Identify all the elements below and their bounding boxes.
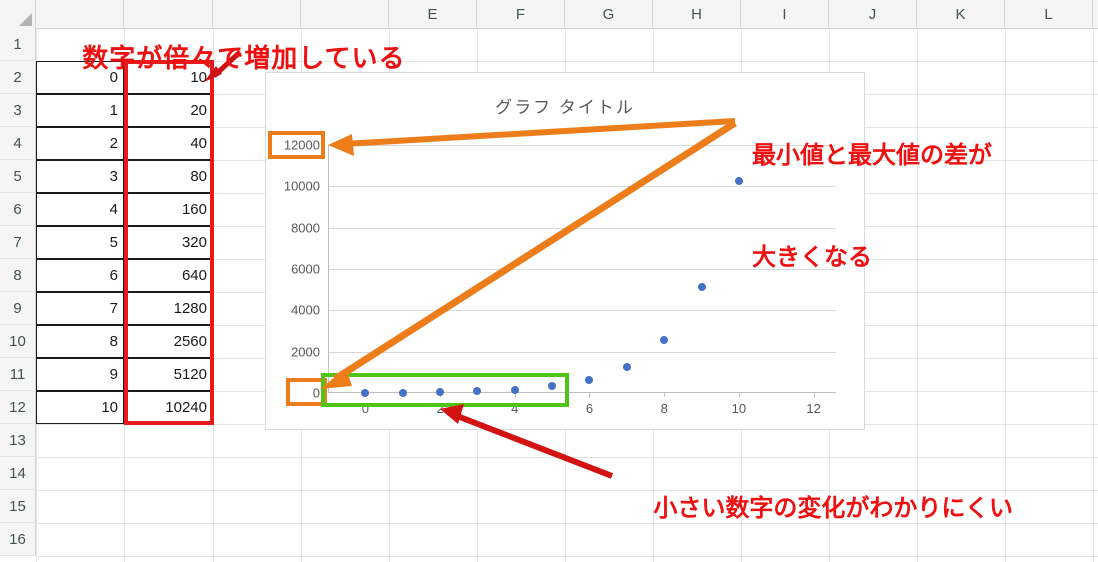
annotation-right: 最小値と最大値の差が 大きくなる	[752, 70, 992, 342]
row-header-6[interactable]: 6	[0, 193, 36, 226]
row-header-15[interactable]: 15	[0, 490, 36, 523]
annotation-bottom-text: 小さい数字の変化がわかりにくい	[653, 494, 1013, 522]
column-header-l[interactable]: L	[1005, 0, 1093, 28]
xtick-label-4: 4	[511, 393, 518, 416]
grid-hline	[36, 457, 1098, 458]
ytick-label-10000: 10000	[284, 179, 328, 194]
annotation-right-line1: 最小値と最大値の差が	[752, 141, 992, 169]
cell-a4[interactable]: 2	[36, 127, 124, 160]
cell-b10[interactable]: 2560	[124, 325, 213, 358]
row-header-9[interactable]: 9	[0, 292, 36, 325]
ytick-label-8000: 8000	[291, 220, 328, 235]
select-all-triangle-icon	[19, 13, 32, 26]
cell-a6[interactable]: 4	[36, 193, 124, 226]
cell-b6[interactable]: 160	[124, 193, 213, 226]
ytick-label-12000: 12000	[284, 138, 328, 153]
xtick-label-2: 2	[436, 393, 443, 416]
xtick-label-8: 8	[661, 393, 668, 416]
column-header-i[interactable]: I	[741, 0, 829, 28]
grid-vline	[213, 28, 214, 562]
annotation-top-text: 数字が倍々で増加している	[82, 44, 405, 74]
column-header-j[interactable]: J	[829, 0, 917, 28]
cell-a8[interactable]: 6	[36, 259, 124, 292]
row-header-4[interactable]: 4	[0, 127, 36, 160]
row-header-10[interactable]: 10	[0, 325, 36, 358]
ytick-label-6000: 6000	[291, 262, 328, 277]
data-point[interactable]	[548, 382, 556, 390]
xtick-label-12: 12	[806, 393, 820, 416]
row-header-13[interactable]: 13	[0, 424, 36, 457]
row-header-5[interactable]: 5	[0, 160, 36, 193]
data-point[interactable]	[511, 386, 519, 394]
row-header-8[interactable]: 8	[0, 259, 36, 292]
ytick-label-0: 0	[313, 386, 328, 401]
cell-b8[interactable]: 640	[124, 259, 213, 292]
data-point[interactable]	[698, 283, 706, 291]
ytick-label-2000: 2000	[291, 344, 328, 359]
cell-b4[interactable]: 40	[124, 127, 213, 160]
column-header-g[interactable]: G	[565, 0, 653, 28]
cell-b12[interactable]: 10240	[124, 391, 213, 424]
cell-a10[interactable]: 8	[36, 325, 124, 358]
gridline-2000	[328, 352, 836, 353]
row-header-3[interactable]: 3	[0, 94, 36, 127]
xtick-label-10: 10	[732, 393, 746, 416]
data-point[interactable]	[623, 363, 631, 371]
cell-a7[interactable]: 5	[36, 226, 124, 259]
data-point[interactable]	[735, 177, 743, 185]
cell-a9[interactable]: 7	[36, 292, 124, 325]
row-header-1[interactable]: 1	[0, 28, 36, 61]
row-header-11[interactable]: 11	[0, 358, 36, 391]
data-point[interactable]	[473, 387, 481, 395]
cell-b5[interactable]: 80	[124, 160, 213, 193]
ytick-label-4000: 4000	[291, 303, 328, 318]
row-header-2[interactable]: 2	[0, 61, 36, 94]
grid-vline	[1093, 28, 1094, 562]
data-point[interactable]	[585, 376, 593, 384]
annotation-right-line2: 大きくなる	[752, 243, 872, 271]
column-header-k[interactable]: K	[917, 0, 1005, 28]
column-header-h[interactable]: H	[653, 0, 741, 28]
data-point[interactable]	[399, 389, 407, 397]
cell-b11[interactable]: 5120	[124, 358, 213, 391]
grid-hline	[36, 556, 1098, 557]
xtick-label-6: 6	[586, 393, 593, 416]
cell-b7[interactable]: 320	[124, 226, 213, 259]
row-header-12[interactable]: 12	[0, 391, 36, 424]
column-header-f[interactable]: F	[477, 0, 565, 28]
row-header-16[interactable]: 16	[0, 523, 36, 556]
row-header-7[interactable]: 7	[0, 226, 36, 259]
select-all-corner[interactable]	[0, 0, 36, 28]
cell-a11[interactable]: 9	[36, 358, 124, 391]
spreadsheet-grid[interactable]: E F G H I J K L 1 2 3 4 5 6 7 8 9 10 11 …	[0, 0, 1098, 562]
cell-a5[interactable]: 3	[36, 160, 124, 193]
annotation-top: 数字が倍々で増加している	[42, 8, 405, 105]
annotation-bottom: 小さい数字の変化がわかりにくい	[620, 460, 1013, 551]
y-axis-line	[328, 145, 329, 393]
data-point[interactable]	[660, 336, 668, 344]
cell-b9[interactable]: 1280	[124, 292, 213, 325]
cell-a12[interactable]: 10	[36, 391, 124, 424]
row-header-14[interactable]: 14	[0, 457, 36, 490]
